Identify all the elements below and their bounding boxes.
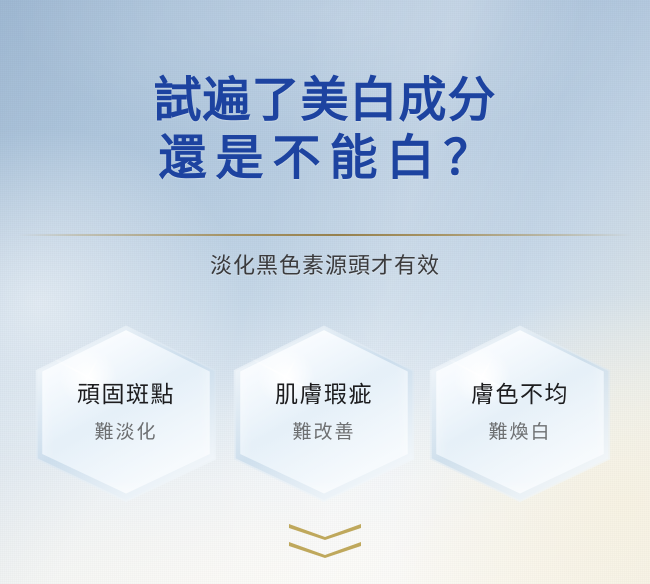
hexagon-badge-1-text: 頑固斑點 難淡化: [28, 318, 224, 504]
subtitle: 淡化黑色素源頭才有效: [0, 248, 650, 280]
hexagon-badge-1-subtitle: 難淡化: [94, 421, 157, 444]
hexagon-badge-1: 頑固斑點 難淡化: [28, 318, 224, 504]
promo-banner: 試遍了美白成分 還是不能白？ 淡化黑色素源頭才有效 頑固斑點 難淡化: [0, 0, 650, 584]
double-chevron-down-icon: [0, 524, 650, 558]
hexagon-badge-2: 肌膚瑕疵 難改善: [226, 318, 422, 504]
chevron-down-icon-1: [289, 524, 361, 540]
hexagon-badge-3-subtitle: 難煥白: [488, 421, 551, 444]
headline-line-2: 還是不能白？: [0, 134, 650, 182]
hexagon-badge-1-title: 頑固斑點: [77, 382, 175, 410]
hexagon-badge-2-subtitle: 難改善: [292, 421, 355, 444]
hexagon-badge-3-text: 膚色不均 難煥白: [422, 318, 618, 504]
chevron-down-icon-2: [289, 542, 361, 558]
hexagon-badge-row: 頑固斑點 難淡化 肌膚瑕疵 難改善 膚色不均: [0, 318, 650, 508]
hexagon-badge-3-title: 膚色不均: [471, 382, 569, 410]
banner-content: 試遍了美白成分 還是不能白？ 淡化黑色素源頭才有效 頑固斑點 難淡化: [0, 0, 650, 584]
hexagon-badge-2-title: 肌膚瑕疵: [275, 382, 373, 410]
hexagon-badge-3: 膚色不均 難煥白: [422, 318, 618, 504]
hexagon-badge-2-text: 肌膚瑕疵 難改善: [226, 318, 422, 504]
gold-divider: [18, 234, 632, 236]
headline: 試遍了美白成分 還是不能白？: [0, 76, 650, 182]
headline-line-1: 試遍了美白成分: [0, 76, 650, 124]
